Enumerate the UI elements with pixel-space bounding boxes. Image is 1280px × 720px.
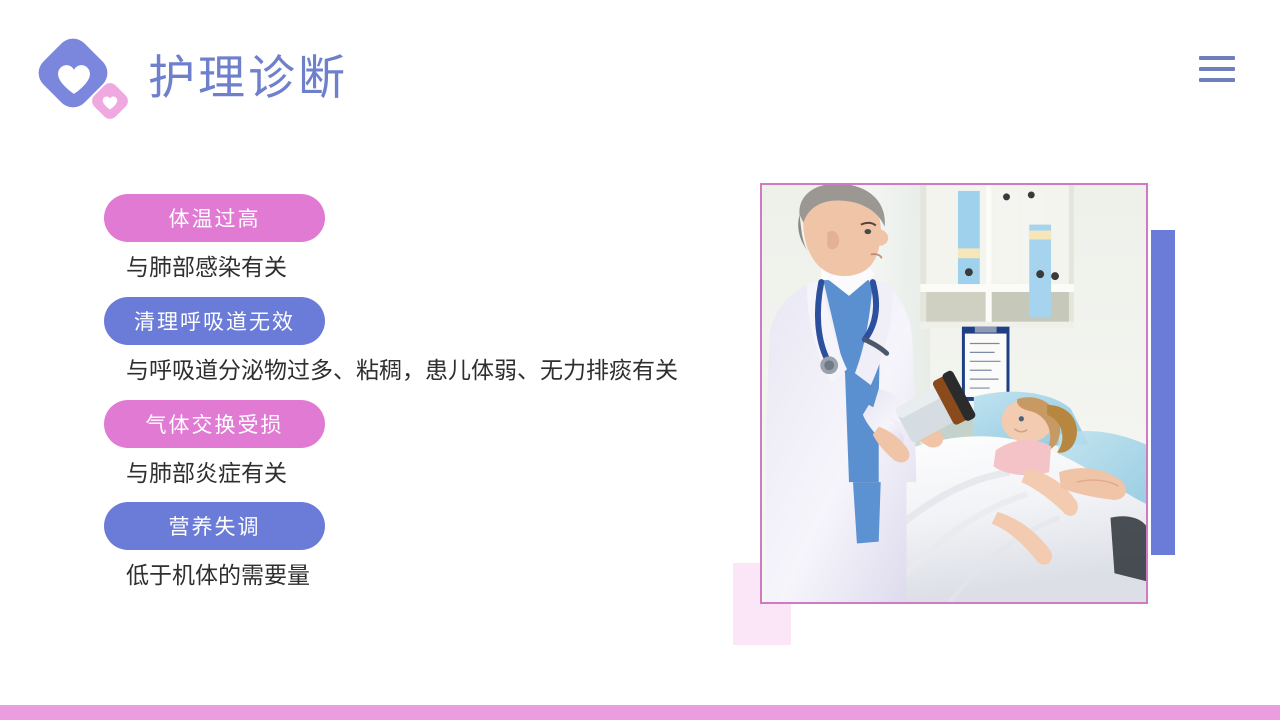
diagnosis-description-2: 与呼吸道分泌物过多、粘稠，患儿体弱、无力排痰有关 (104, 357, 724, 386)
blue-accent-bar (1151, 230, 1175, 555)
logo-heart-large-icon (57, 64, 91, 95)
diagnosis-pill-3[interactable]: 气体交换受损 (104, 400, 325, 448)
list-item: 清理呼吸道无效 与呼吸道分泌物过多、粘稠，患儿体弱、无力排痰有关 (104, 297, 724, 386)
hamburger-line-1 (1199, 56, 1235, 60)
list-item: 气体交换受损 与肺部炎症有关 (104, 400, 724, 489)
heart-diamond-logo-icon (40, 38, 126, 118)
photo-frame (760, 183, 1148, 604)
hamburger-line-2 (1199, 67, 1235, 71)
hamburger-menu-icon[interactable] (1199, 56, 1235, 82)
diagnosis-list: 体温过高 与肺部感染有关 清理呼吸道无效 与呼吸道分泌物过多、粘稠，患儿体弱、无… (104, 194, 724, 605)
footer-accent-bar (0, 705, 1280, 720)
page-title: 护理诊断 (148, 55, 348, 102)
diagnosis-description-3: 与肺部炎症有关 (104, 460, 724, 489)
page-header: 护理诊断 (0, 0, 1280, 160)
clinic-photo (762, 185, 1146, 602)
diagnosis-pill-4[interactable]: 营养失调 (104, 502, 325, 550)
list-item: 体温过高 与肺部感染有关 (104, 194, 724, 283)
diagnosis-description-4: 低于机体的需要量 (104, 562, 724, 591)
clinic-photo-illustration (762, 185, 1146, 602)
visual-block (733, 183, 1180, 648)
diagnosis-pill-1[interactable]: 体温过高 (104, 194, 325, 242)
list-item: 营养失调 低于机体的需要量 (104, 502, 724, 591)
diagnosis-pill-2[interactable]: 清理呼吸道无效 (104, 297, 325, 345)
brand: 护理诊断 (40, 38, 348, 118)
hamburger-line-3 (1199, 78, 1235, 82)
diagnosis-description-1: 与肺部感染有关 (104, 254, 724, 283)
logo-heart-small-icon (102, 96, 118, 110)
